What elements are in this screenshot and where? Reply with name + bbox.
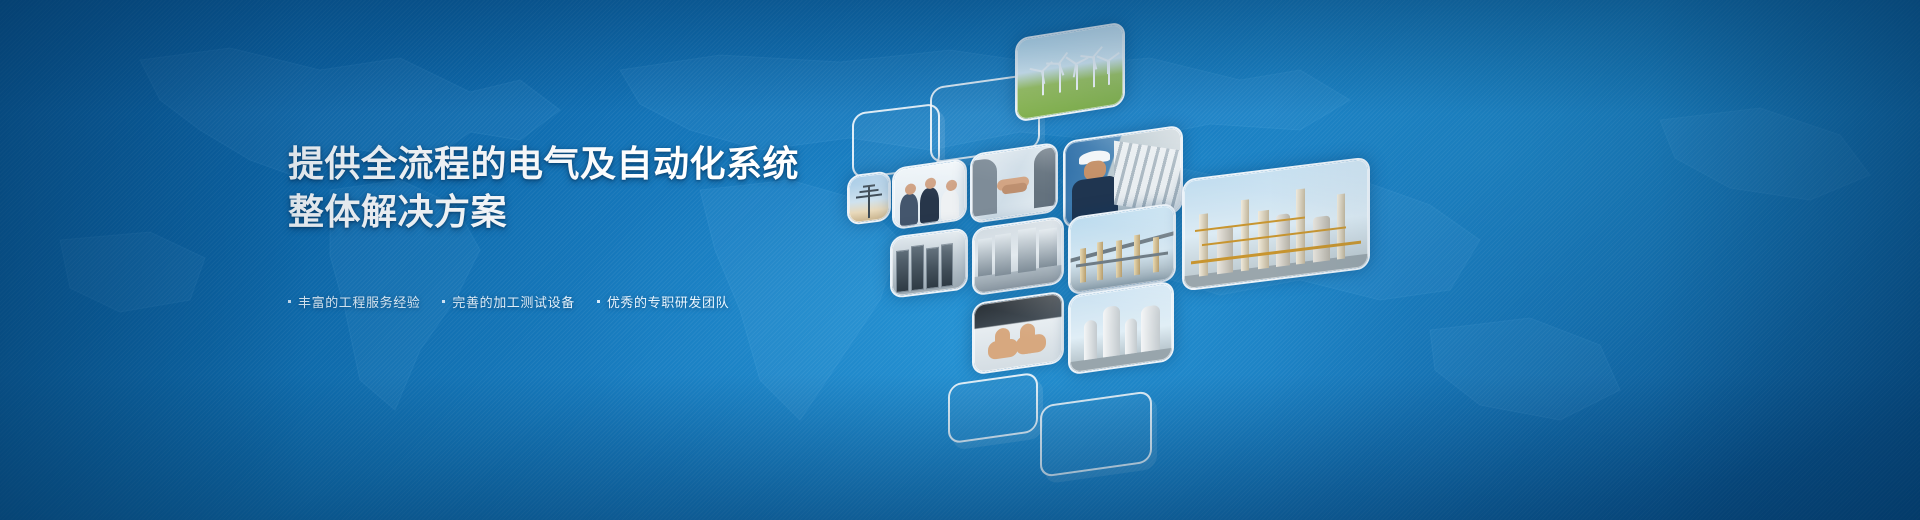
tile-wind-farm (1015, 21, 1125, 122)
tile-cryogenic-tanks (1068, 281, 1174, 376)
bullet-dot-icon (288, 300, 291, 303)
banner-headline: 提供全流程的电气及自动化系统 整体解决方案 (288, 140, 1048, 236)
headline-line-2: 整体解决方案 (288, 188, 1048, 236)
feature-item-1: 丰富的工程服务经验 (288, 292, 420, 311)
bullet-dot-icon (597, 300, 600, 303)
feature-label-2: 完善的加工测试设备 (452, 292, 574, 311)
tile-empty-frame-bottom-left (948, 372, 1038, 445)
hero-banner: 提供全流程的电气及自动化系统 整体解决方案 丰富的工程服务经验 完善的加工测试设… (0, 0, 1920, 520)
wind-farm-photo (1017, 24, 1123, 121)
feature-item-3: 优秀的专职研发团队 (597, 292, 729, 311)
cryogenic-tanks-photo (1070, 283, 1172, 373)
industrial-plant-photo (1070, 205, 1174, 294)
tile-refinery (1182, 156, 1370, 291)
feature-label-1: 丰富的工程服务经验 (298, 292, 420, 311)
feature-label-3: 优秀的专职研发团队 (607, 292, 729, 311)
bullet-dot-icon (442, 300, 445, 303)
banner-copy: 提供全流程的电气及自动化系统 整体解决方案 丰富的工程服务经验 完善的加工测试设… (288, 140, 1048, 311)
feature-item-2: 完善的加工测试设备 (442, 292, 574, 311)
tile-empty-frame-bottom-right (1040, 390, 1152, 478)
refinery-photo (1184, 159, 1368, 290)
headline-line-1: 提供全流程的电气及自动化系统 (288, 140, 1048, 188)
banner-feature-list: 丰富的工程服务经验 完善的加工测试设备 优秀的专职研发团队 (288, 292, 1048, 311)
